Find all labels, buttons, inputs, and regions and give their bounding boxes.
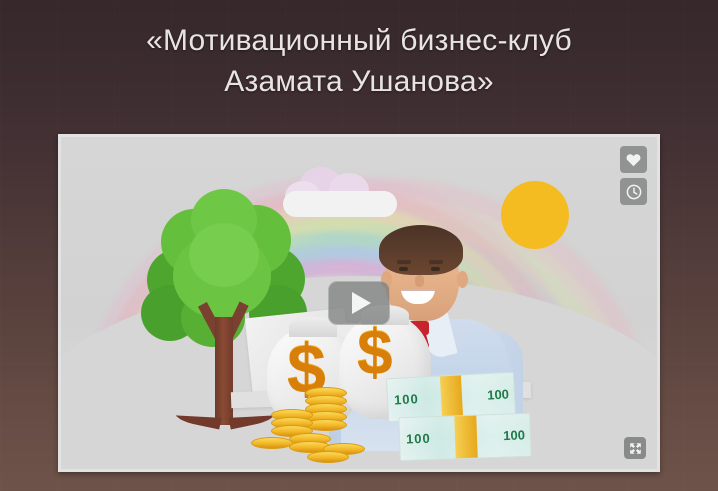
favorite-button[interactable] — [620, 146, 647, 173]
play-triangle-icon — [352, 292, 371, 314]
clock-icon — [626, 184, 642, 200]
dollar-sign-right: $ — [357, 319, 393, 383]
player-corner-controls — [620, 146, 647, 205]
banknote-bundle-lower: 100 100 — [398, 413, 531, 462]
heart-icon — [626, 153, 641, 167]
fullscreen-button[interactable] — [624, 437, 646, 459]
page-title: «Мотивационный бизнес-клуб Азамата Ушано… — [0, 20, 718, 103]
coin — [307, 451, 349, 463]
play-button[interactable] — [328, 281, 390, 325]
fullscreen-expand-icon — [629, 442, 642, 455]
video-player[interactable]: $ $ 100 100 100 100 — [58, 134, 660, 472]
watch-later-button[interactable] — [620, 178, 647, 205]
coin — [251, 437, 293, 449]
